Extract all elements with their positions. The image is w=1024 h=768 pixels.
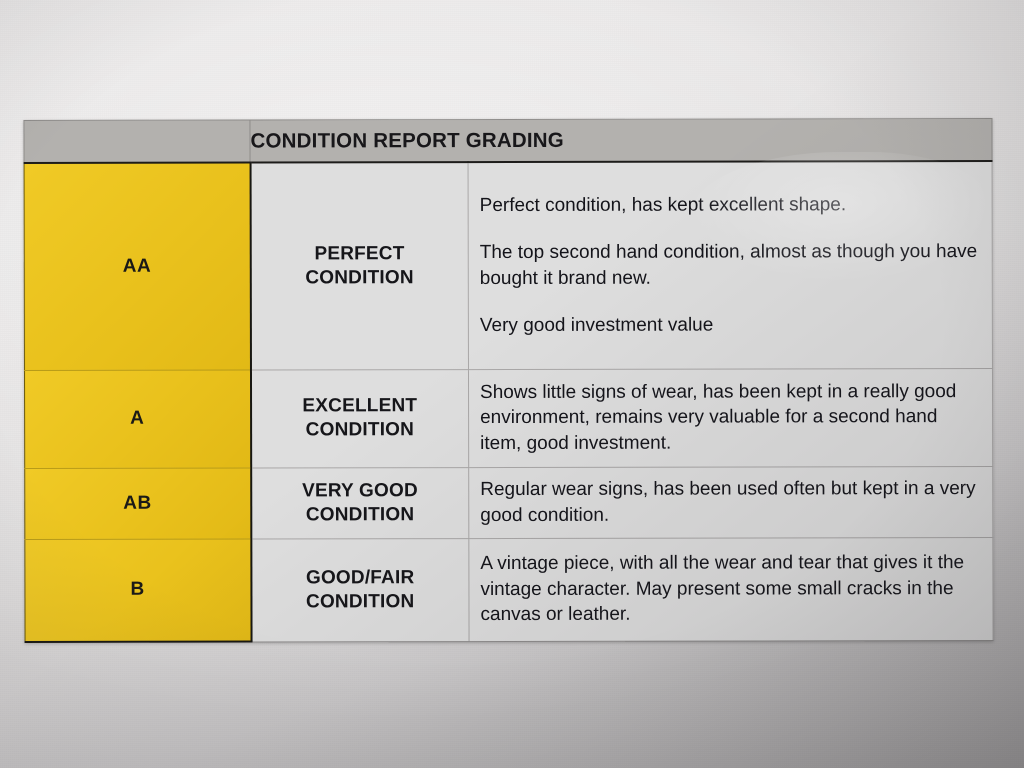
table-row: A EXCELLENT CONDITION Shows little signs… xyxy=(24,368,992,468)
description-b: A vintage piece, with all the wear and t… xyxy=(469,537,993,641)
condition-label-line2: CONDITION xyxy=(306,591,414,612)
condition-label-line1: GOOD/FAIR xyxy=(306,567,414,588)
condition-label-line1: EXCELLENT xyxy=(302,395,417,416)
grade-code-a: A xyxy=(24,370,250,468)
description-paragraph: Regular wear signs, has been used often … xyxy=(480,476,980,528)
table-row: AA PERFECT CONDITION Perfect condition, … xyxy=(24,161,992,370)
grade-code-ab: AB xyxy=(25,468,251,539)
condition-label-b: GOOD/FAIR CONDITION xyxy=(251,538,469,641)
description-paragraph: The top second hand condition, almost as… xyxy=(480,239,980,291)
description-a: Shows little signs of wear, has been kep… xyxy=(468,368,992,467)
table-row: AB VERY GOOD CONDITION Regular wear sign… xyxy=(25,466,993,539)
table-row: B GOOD/FAIR CONDITION A vintage piece, w… xyxy=(25,537,993,642)
table-header-row: CONDITION REPORT GRADING xyxy=(24,118,992,163)
condition-label-line1: VERY GOOD xyxy=(302,480,418,501)
description-paragraph: Perfect condition, has kept excellent sh… xyxy=(480,192,980,219)
description-paragraph: Very good investment value xyxy=(480,312,980,339)
condition-label-ab: VERY GOOD CONDITION xyxy=(251,467,469,538)
table-title: CONDITION REPORT GRADING xyxy=(250,118,992,162)
condition-label-a: EXCELLENT CONDITION xyxy=(250,369,468,467)
description-paragraph: Shows little signs of wear, has been kep… xyxy=(480,379,980,456)
condition-label-line2: CONDITION xyxy=(306,504,414,525)
description-ab: Regular wear signs, has been used often … xyxy=(469,466,993,538)
header-spacer-cell xyxy=(24,120,250,163)
condition-label-aa: PERFECT CONDITION xyxy=(250,162,468,369)
condition-report-grading-table: CONDITION REPORT GRADING AA PERFECT COND… xyxy=(23,118,993,643)
condition-label-line1: PERFECT xyxy=(314,243,404,264)
grade-code-aa: AA xyxy=(24,163,250,370)
photographed-page: CONDITION REPORT GRADING AA PERFECT COND… xyxy=(0,0,1024,768)
condition-label-line2: CONDITION xyxy=(306,419,414,440)
condition-label-line2: CONDITION xyxy=(305,267,413,288)
grade-code-b: B xyxy=(25,539,251,642)
description-paragraph: A vintage piece, with all the wear and t… xyxy=(480,550,980,627)
description-aa: Perfect condition, has kept excellent sh… xyxy=(468,161,992,369)
condition-report-table-container: CONDITION REPORT GRADING AA PERFECT COND… xyxy=(23,118,993,640)
